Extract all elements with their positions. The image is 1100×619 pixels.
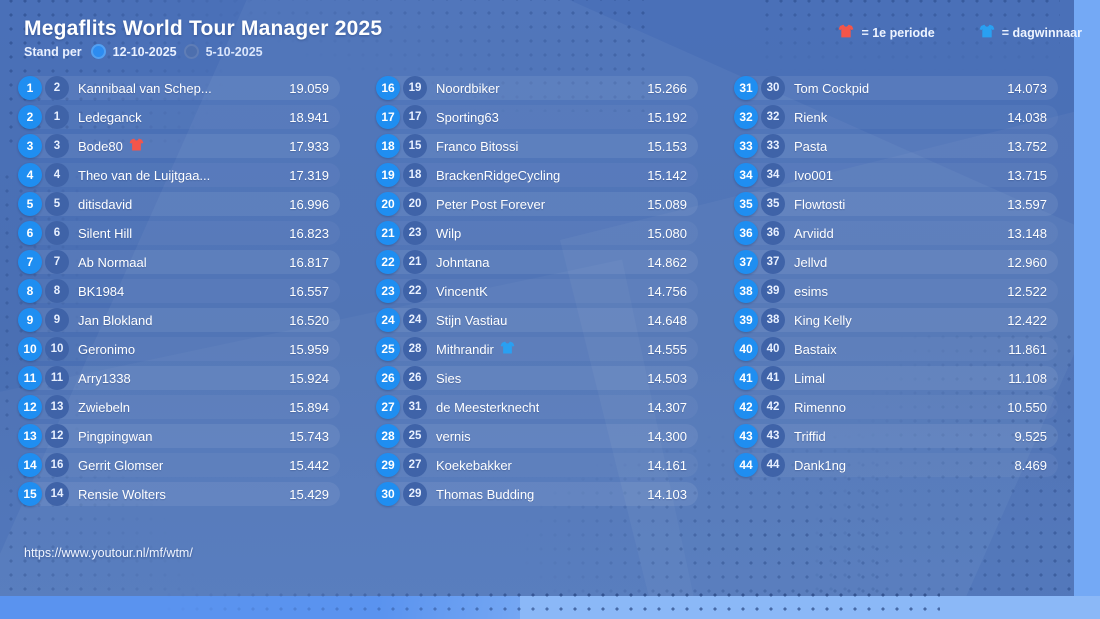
- rank-badge: 8: [18, 279, 42, 303]
- previous-rank-badge: 5: [45, 192, 69, 216]
- standings-columns: 12Kannibaal van Schep...19.05921Ledeganc…: [0, 76, 1100, 511]
- rank-badge: 34: [734, 163, 758, 187]
- radio-selected-icon[interactable]: [91, 44, 106, 59]
- table-row[interactable]: 3029Thomas Budding14.103: [376, 482, 698, 506]
- points-value: 15.894: [281, 400, 329, 415]
- points-value: 14.503: [639, 371, 687, 386]
- previous-rank-badge: 3: [45, 134, 69, 158]
- participant-name-text: Rensie Wolters: [78, 487, 166, 502]
- points-value: 16.557: [281, 284, 329, 299]
- participant-name: Wilp: [436, 226, 639, 241]
- participant-name-text: Peter Post Forever: [436, 197, 545, 212]
- participant-name: Bastaix: [794, 342, 999, 357]
- table-row[interactable]: 1213Zwiebeln15.894: [18, 395, 340, 419]
- rank-badge: 41: [734, 366, 758, 390]
- rank-badge: 22: [376, 250, 400, 274]
- participant-name: ditisdavid: [78, 197, 281, 212]
- participant-name: Jellvd: [794, 255, 999, 270]
- points-value: 15.266: [639, 81, 687, 96]
- participant-name-text: Stijn Vastiau: [436, 313, 507, 328]
- points-value: 13.148: [999, 226, 1047, 241]
- previous-rank-badge: 34: [761, 163, 785, 187]
- participant-name: Ivo001: [794, 168, 999, 183]
- participant-name: Triffid: [794, 429, 999, 444]
- previous-rank-badge: 26: [403, 366, 427, 390]
- participant-name: Ab Normaal: [78, 255, 281, 270]
- points-value: 15.442: [281, 458, 329, 473]
- rank-badge: 7: [18, 250, 42, 274]
- previous-rank-badge: 6: [45, 221, 69, 245]
- rank-badge: 20: [376, 192, 400, 216]
- rank-badge: 12: [18, 395, 42, 419]
- rank-badge: 13: [18, 424, 42, 448]
- table-row[interactable]: 4141Limal11.108: [734, 366, 1058, 390]
- previous-rank-badge: 22: [403, 279, 427, 303]
- points-value: 15.924: [281, 371, 329, 386]
- points-value: 16.520: [281, 313, 329, 328]
- rank-badge: 18: [376, 134, 400, 158]
- participant-name: Arviidd: [794, 226, 999, 241]
- previous-rank-badge: 21: [403, 250, 427, 274]
- legend-label-dagwinnaar: = dagwinnaar: [1002, 26, 1082, 40]
- jersey-icon: [838, 24, 854, 41]
- points-value: 15.959: [281, 342, 329, 357]
- rank-badge: 15: [18, 482, 42, 506]
- points-value: 18.941: [281, 110, 329, 125]
- rank-badge: 37: [734, 250, 758, 274]
- points-value: 11.108: [999, 371, 1047, 386]
- standings-date-selector: Stand per 12-10-2025 5-10-2025: [24, 44, 263, 59]
- rank-badge: 1: [18, 76, 42, 100]
- participant-name-text: Johntana: [436, 255, 490, 270]
- participant-name-text: BrackenRidgeCycling: [436, 168, 560, 183]
- legend: = 1e periode = dagwinnaar: [838, 24, 1082, 41]
- participant-name-text: Zwiebeln: [78, 400, 130, 415]
- points-value: 9.525: [999, 429, 1047, 444]
- participant-name: Zwiebeln: [78, 400, 281, 415]
- table-row[interactable]: 4444Dank1ng8.469: [734, 453, 1058, 477]
- participant-name: Ledeganck: [78, 110, 281, 125]
- rank-badge: 9: [18, 308, 42, 332]
- rank-badge: 36: [734, 221, 758, 245]
- participant-name-text: Geronimo: [78, 342, 135, 357]
- page-title: Megaflits World Tour Manager 2025: [24, 17, 382, 41]
- table-row[interactable]: 3938King Kelly12.422: [734, 308, 1058, 332]
- participant-name: Arry1338: [78, 371, 281, 386]
- rank-badge: 5: [18, 192, 42, 216]
- date-option-previous[interactable]: 5-10-2025: [184, 44, 263, 59]
- points-value: 15.080: [639, 226, 687, 241]
- participant-name-text: Triffid: [794, 429, 826, 444]
- table-row[interactable]: 3839esims12.522: [734, 279, 1058, 303]
- previous-rank-badge: 15: [403, 134, 427, 158]
- participant-name-text: Ab Normaal: [78, 255, 147, 270]
- participant-name: Tom Cockpid: [794, 81, 999, 96]
- participant-name-text: esims: [794, 284, 828, 299]
- table-row[interactable]: 21Ledeganck18.941: [18, 105, 340, 129]
- participant-name-text: Ivo001: [794, 168, 833, 183]
- participant-name: Flowtosti: [794, 197, 999, 212]
- points-value: 13.715: [999, 168, 1047, 183]
- rank-badge: 44: [734, 453, 758, 477]
- rank-badge: 42: [734, 395, 758, 419]
- points-value: 17.319: [281, 168, 329, 183]
- points-value: 13.597: [999, 197, 1047, 212]
- participant-name: Peter Post Forever: [436, 197, 639, 212]
- table-row[interactable]: 4040Bastaix11.861: [734, 337, 1058, 361]
- previous-rank-badge: 17: [403, 105, 427, 129]
- previous-rank-badge: 39: [761, 279, 785, 303]
- participant-name-text: Tom Cockpid: [794, 81, 869, 96]
- participant-name: King Kelly: [794, 313, 999, 328]
- previous-rank-badge: 32: [761, 105, 785, 129]
- rank-badge: 2: [18, 105, 42, 129]
- participant-name-text: ditisdavid: [78, 197, 132, 212]
- rank-badge: 29: [376, 453, 400, 477]
- participant-name: Geronimo: [78, 342, 281, 357]
- participant-name: Pingpingwan: [78, 429, 281, 444]
- table-row[interactable]: 1619Noordbiker15.266: [376, 76, 698, 100]
- previous-rank-badge: 29: [403, 482, 427, 506]
- participant-name: Jan Blokland: [78, 313, 281, 328]
- rank-badge: 16: [376, 76, 400, 100]
- table-row[interactable]: 3434Ivo00113.715: [734, 163, 1058, 187]
- participant-name-text: de Meesterknecht: [436, 400, 539, 415]
- participant-name: Stijn Vastiau: [436, 313, 639, 328]
- participant-name: Rensie Wolters: [78, 487, 281, 502]
- table-row[interactable]: 2221Johntana14.862: [376, 250, 698, 274]
- rank-badge: 31: [734, 76, 758, 100]
- rank-badge: 32: [734, 105, 758, 129]
- table-row[interactable]: 1918BrackenRidgeCycling15.142: [376, 163, 698, 187]
- participant-name: vernis: [436, 429, 639, 444]
- radio-unselected-icon[interactable]: [184, 44, 199, 59]
- table-row[interactable]: 3130Tom Cockpid14.073: [734, 76, 1058, 100]
- rank-badge: 26: [376, 366, 400, 390]
- table-row[interactable]: 2020Peter Post Forever15.089: [376, 192, 698, 216]
- table-row[interactable]: 88BK198416.557: [18, 279, 340, 303]
- previous-rank-badge: 7: [45, 250, 69, 274]
- table-row[interactable]: 3535Flowtosti13.597: [734, 192, 1058, 216]
- participant-name-text: Rimenno: [794, 400, 846, 415]
- previous-rank-badge: 23: [403, 221, 427, 245]
- participant-name-text: Theo van de Luijtgaa...: [78, 168, 210, 183]
- legend-label-periode: = 1e periode: [861, 26, 934, 40]
- participant-name-text: vernis: [436, 429, 471, 444]
- points-value: 14.161: [639, 458, 687, 473]
- points-value: 14.300: [639, 429, 687, 444]
- previous-rank-badge: 2: [45, 76, 69, 100]
- previous-rank-badge: 44: [761, 453, 785, 477]
- previous-rank-badge: 20: [403, 192, 427, 216]
- points-value: 16.996: [281, 197, 329, 212]
- participant-name-text: Pasta: [794, 139, 827, 154]
- participant-name: BK1984: [78, 284, 281, 299]
- participant-name-text: Ledeganck: [78, 110, 142, 125]
- rank-badge: 11: [18, 366, 42, 390]
- points-value: 15.429: [281, 487, 329, 502]
- rank-badge: 25: [376, 337, 400, 361]
- points-value: 19.059: [281, 81, 329, 96]
- previous-rank-badge: 12: [45, 424, 69, 448]
- participant-name-text: Rienk: [794, 110, 827, 125]
- table-row[interactable]: 66Silent Hill16.823: [18, 221, 340, 245]
- previous-rank-badge: 9: [45, 308, 69, 332]
- participant-name-text: Thomas Budding: [436, 487, 534, 502]
- participant-name-text: Sies: [436, 371, 461, 386]
- table-row[interactable]: 1815Franco Bitossi15.153: [376, 134, 698, 158]
- jersey-icon: [979, 24, 995, 41]
- previous-rank-badge: 19: [403, 76, 427, 100]
- points-value: 14.103: [639, 487, 687, 502]
- table-row[interactable]: 55ditisdavid16.996: [18, 192, 340, 216]
- previous-rank-badge: 35: [761, 192, 785, 216]
- previous-rank-badge: 40: [761, 337, 785, 361]
- points-value: 12.422: [999, 313, 1047, 328]
- previous-rank-badge: 18: [403, 163, 427, 187]
- participant-name-text: Dank1ng: [794, 458, 846, 473]
- table-row[interactable]: 2731de Meesterknecht14.307: [376, 395, 698, 419]
- points-value: 8.469: [999, 458, 1047, 473]
- previous-rank-badge: 43: [761, 424, 785, 448]
- participant-name: Noordbiker: [436, 81, 639, 96]
- previous-rank-badge: 11: [45, 366, 69, 390]
- participant-name: esims: [794, 284, 999, 299]
- rank-badge: 6: [18, 221, 42, 245]
- points-value: 15.743: [281, 429, 329, 444]
- table-row[interactable]: 1010Geronimo15.959: [18, 337, 340, 361]
- participant-name: VincentK: [436, 284, 639, 299]
- points-value: 14.555: [639, 342, 687, 357]
- participant-name: Silent Hill: [78, 226, 281, 241]
- points-value: 15.153: [639, 139, 687, 154]
- participant-name-text: Flowtosti: [794, 197, 845, 212]
- stand-per-label: Stand per: [24, 45, 82, 59]
- standings-column-1: 12Kannibaal van Schep...19.05921Ledeganc…: [0, 76, 358, 511]
- previous-rank-badge: 31: [403, 395, 427, 419]
- rank-badge: 30: [376, 482, 400, 506]
- participant-name: BrackenRidgeCycling: [436, 168, 639, 183]
- rank-badge: 38: [734, 279, 758, 303]
- participant-name: Dank1ng: [794, 458, 999, 473]
- table-row[interactable]: 4343Triffid9.525: [734, 424, 1058, 448]
- participant-name: Sies: [436, 371, 639, 386]
- participant-name-text: BK1984: [78, 284, 124, 299]
- table-row[interactable]: 4242Rimenno10.550: [734, 395, 1058, 419]
- participant-name-text: Bastaix: [794, 342, 837, 357]
- participant-name-text: King Kelly: [794, 313, 852, 328]
- table-row[interactable]: 3232Rienk14.038: [734, 105, 1058, 129]
- points-value: 12.522: [999, 284, 1047, 299]
- points-value: 12.960: [999, 255, 1047, 270]
- participant-name-text: Kannibaal van Schep...: [78, 81, 212, 96]
- participant-name: Franco Bitossi: [436, 139, 639, 154]
- participant-name-text: Pingpingwan: [78, 429, 152, 444]
- previous-rank-badge: 13: [45, 395, 69, 419]
- participant-name: de Meesterknecht: [436, 400, 639, 415]
- previous-rank-badge: 30: [761, 76, 785, 100]
- previous-rank-badge: 14: [45, 482, 69, 506]
- participant-name-text: Koekebakker: [436, 458, 512, 473]
- points-value: 16.817: [281, 255, 329, 270]
- participant-name: Rimenno: [794, 400, 999, 415]
- participant-name-text: VincentK: [436, 284, 488, 299]
- points-value: 16.823: [281, 226, 329, 241]
- table-row[interactable]: 2825vernis14.300: [376, 424, 698, 448]
- standings-column-2: 1619Noordbiker15.2661717Sporting6315.192…: [358, 76, 716, 511]
- table-row[interactable]: 2424Stijn Vastiau14.648: [376, 308, 698, 332]
- previous-rank-badge: 38: [761, 308, 785, 332]
- participant-name: Kannibaal van Schep...: [78, 81, 281, 96]
- points-value: 14.756: [639, 284, 687, 299]
- previous-rank-badge: 8: [45, 279, 69, 303]
- points-value: 10.550: [999, 400, 1047, 415]
- points-value: 14.038: [999, 110, 1047, 125]
- rank-badge: 10: [18, 337, 42, 361]
- previous-rank-badge: 41: [761, 366, 785, 390]
- rank-badge: 43: [734, 424, 758, 448]
- points-value: 15.192: [639, 110, 687, 125]
- points-value: 14.648: [639, 313, 687, 328]
- table-row[interactable]: 12Kannibaal van Schep...19.059: [18, 76, 340, 100]
- participant-name-text: Arviidd: [794, 226, 834, 241]
- rank-badge: 33: [734, 134, 758, 158]
- participant-name-text: Sporting63: [436, 110, 499, 125]
- participant-name-text: Limal: [794, 371, 825, 386]
- participant-name: Thomas Budding: [436, 487, 639, 502]
- table-row[interactable]: 1111Arry133815.924: [18, 366, 340, 390]
- footer-url: https://www.youtour.nl/mf/wtm/: [24, 546, 193, 560]
- participant-name-text: Arry1338: [78, 371, 131, 386]
- rank-badge: 28: [376, 424, 400, 448]
- points-value: 15.142: [639, 168, 687, 183]
- previous-rank-badge: 42: [761, 395, 785, 419]
- participant-name: Limal: [794, 371, 999, 386]
- participant-name-text: Noordbiker: [436, 81, 500, 96]
- previous-rank-badge: 10: [45, 337, 69, 361]
- rank-badge: 3: [18, 134, 42, 158]
- previous-rank-badge: 36: [761, 221, 785, 245]
- rank-badge: 21: [376, 221, 400, 245]
- participant-name-text: Bode80: [78, 139, 123, 154]
- previous-rank-badge: 24: [403, 308, 427, 332]
- participant-name-text: Wilp: [436, 226, 461, 241]
- participant-name: Pasta: [794, 139, 999, 154]
- table-row[interactable]: 3737Jellvd12.960: [734, 250, 1058, 274]
- legend-item-periode: = 1e periode: [838, 24, 934, 41]
- table-row[interactable]: 3636Arviidd13.148: [734, 221, 1058, 245]
- points-value: 14.073: [999, 81, 1047, 96]
- previous-rank-badge: 28: [403, 337, 427, 361]
- table-row[interactable]: 3333Pasta13.752: [734, 134, 1058, 158]
- rank-badge: 40: [734, 337, 758, 361]
- participant-name: Sporting63: [436, 110, 639, 125]
- participant-name: Mithrandir: [436, 341, 639, 357]
- table-row[interactable]: 44Theo van de Luijtgaa...17.319: [18, 163, 340, 187]
- previous-rank-badge: 33: [761, 134, 785, 158]
- previous-rank-badge: 4: [45, 163, 69, 187]
- participant-name: Johntana: [436, 255, 639, 270]
- date-option-previous-label: 5-10-2025: [206, 45, 263, 59]
- table-row[interactable]: 99Jan Blokland16.520: [18, 308, 340, 332]
- rank-badge: 23: [376, 279, 400, 303]
- jersey-icon: [500, 341, 515, 357]
- date-option-current[interactable]: 12-10-2025: [91, 44, 177, 59]
- standings-column-3: 3130Tom Cockpid14.0733232Rienk14.0383333…: [716, 76, 1076, 511]
- previous-rank-badge: 27: [403, 453, 427, 477]
- rank-badge: 27: [376, 395, 400, 419]
- table-row[interactable]: 77Ab Normaal16.817: [18, 250, 340, 274]
- table-row[interactable]: 2927Koekebakker14.161: [376, 453, 698, 477]
- participant-name-text: Silent Hill: [78, 226, 132, 241]
- rank-badge: 35: [734, 192, 758, 216]
- previous-rank-badge: 16: [45, 453, 69, 477]
- previous-rank-badge: 25: [403, 424, 427, 448]
- table-row[interactable]: 1416Gerrit Glomser15.442: [18, 453, 340, 477]
- participant-name: Bode80: [78, 138, 281, 154]
- rank-badge: 17: [376, 105, 400, 129]
- participant-name-text: Franco Bitossi: [436, 139, 518, 154]
- participant-name-text: Jan Blokland: [78, 313, 152, 328]
- participant-name: Theo van de Luijtgaa...: [78, 168, 281, 183]
- participant-name-text: Gerrit Glomser: [78, 458, 163, 473]
- participant-name: Gerrit Glomser: [78, 458, 281, 473]
- table-row[interactable]: 2626Sies14.503: [376, 366, 698, 390]
- table-row[interactable]: 2322VincentK14.756: [376, 279, 698, 303]
- points-value: 11.861: [999, 342, 1047, 357]
- participant-name-text: Jellvd: [794, 255, 827, 270]
- participant-name-text: Mithrandir: [436, 342, 494, 357]
- rank-badge: 39: [734, 308, 758, 332]
- table-row[interactable]: 1312Pingpingwan15.743: [18, 424, 340, 448]
- points-value: 15.089: [639, 197, 687, 212]
- points-value: 17.933: [281, 139, 329, 154]
- points-value: 14.307: [639, 400, 687, 415]
- table-row[interactable]: 2123Wilp15.080: [376, 221, 698, 245]
- table-row[interactable]: 2528Mithrandir14.555: [376, 337, 698, 361]
- previous-rank-badge: 37: [761, 250, 785, 274]
- participant-name: Rienk: [794, 110, 999, 125]
- legend-item-dagwinnaar: = dagwinnaar: [979, 24, 1082, 41]
- previous-rank-badge: 1: [45, 105, 69, 129]
- rank-badge: 4: [18, 163, 42, 187]
- jersey-icon: [129, 138, 144, 154]
- table-row[interactable]: 33Bode8017.933: [18, 134, 340, 158]
- participant-name: Koekebakker: [436, 458, 639, 473]
- rank-badge: 14: [18, 453, 42, 477]
- rank-badge: 19: [376, 163, 400, 187]
- table-row[interactable]: 1717Sporting6315.192: [376, 105, 698, 129]
- table-row[interactable]: 1514Rensie Wolters15.429: [18, 482, 340, 506]
- points-value: 13.752: [999, 139, 1047, 154]
- points-value: 14.862: [639, 255, 687, 270]
- date-option-current-label: 12-10-2025: [113, 45, 177, 59]
- rank-badge: 24: [376, 308, 400, 332]
